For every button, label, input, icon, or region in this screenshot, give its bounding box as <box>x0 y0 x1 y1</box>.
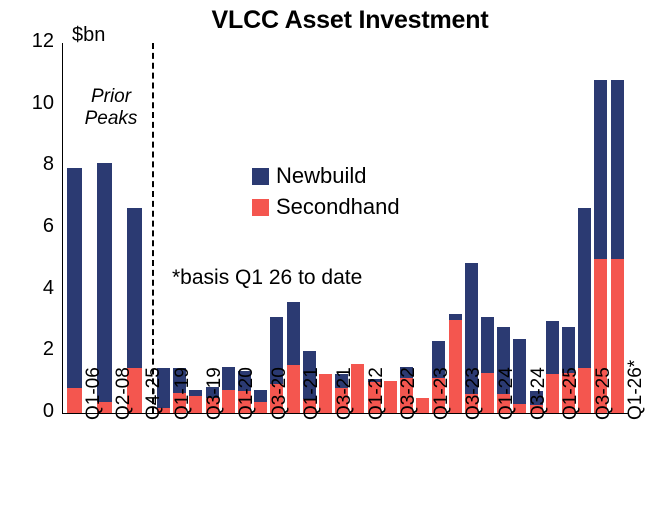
x-tick-label: Q1-24 <box>496 367 518 420</box>
x-tick-label: Q3-23 <box>463 367 485 420</box>
bar-segment-newbuild <box>287 302 300 365</box>
bar <box>611 80 624 413</box>
bar-segment-newbuild <box>578 208 591 368</box>
x-tick-label: Q1-25 <box>560 367 582 420</box>
y-tick-label: 10 <box>12 93 54 113</box>
chart-container: VLCC Asset Investment $bn Prior Peaks *b… <box>0 0 653 510</box>
x-tick-label: Q1-20 <box>236 367 258 420</box>
y-axis-line <box>62 43 63 414</box>
x-tick-label: Q3-19 <box>204 367 226 420</box>
bar-segment-secondhand <box>67 388 82 413</box>
bar-segment-newbuild <box>67 168 82 388</box>
y-axis-unit-label: $bn <box>72 24 105 47</box>
legend-swatch-newbuild-icon <box>252 168 269 185</box>
basis-note-annotation: *basis Q1 26 to date <box>172 266 362 290</box>
x-tick-label: Q3-24 <box>528 367 550 420</box>
bar <box>594 80 607 413</box>
x-tick-label: Q1-23 <box>431 367 453 420</box>
bar-segment-newbuild <box>562 327 575 373</box>
legend-swatch-secondhand-icon <box>252 199 269 216</box>
panel-divider-dashed <box>152 43 154 414</box>
bar <box>67 168 82 413</box>
x-tick-label: Q4-25 <box>143 367 165 420</box>
prior-peaks-line-1: Prior <box>72 86 150 108</box>
y-tick-label: 6 <box>12 216 54 236</box>
x-tick-label: Q2-08 <box>113 367 135 420</box>
y-tick-label: 4 <box>12 278 54 298</box>
bar-segment-newbuild <box>127 208 142 368</box>
x-tick-label: Q1-06 <box>83 367 105 420</box>
y-tick-label: 2 <box>12 339 54 359</box>
x-tick-label: Q1-19 <box>172 367 194 420</box>
x-tick-label: Q1-26* <box>625 360 647 420</box>
x-tick-label: Q1-21 <box>301 367 323 420</box>
legend-label-secondhand: Secondhand <box>276 196 400 218</box>
y-tick-label: 0 <box>12 401 54 421</box>
prior-peaks-annotation: Prior Peaks <box>72 86 150 131</box>
bar-segment-newbuild <box>611 80 624 259</box>
legend-item-secondhand: Secondhand <box>252 196 400 218</box>
y-tick-label: 8 <box>12 154 54 174</box>
x-tick-label: Q3-25 <box>593 367 615 420</box>
x-tick-label: Q3-22 <box>398 367 420 420</box>
prior-peaks-line-2: Peaks <box>72 108 150 130</box>
chart-legend: Newbuild Secondhand <box>252 165 400 227</box>
legend-item-newbuild: Newbuild <box>252 165 400 187</box>
x-tick-label: Q1-22 <box>366 367 388 420</box>
legend-label-newbuild: Newbuild <box>276 165 367 187</box>
bar-segment-newbuild <box>594 80 607 259</box>
bar-segment-newbuild <box>481 317 494 373</box>
y-tick-label: 12 <box>12 31 54 51</box>
x-tick-label: Q3-20 <box>269 367 291 420</box>
x-tick-label: Q3-21 <box>334 367 356 420</box>
